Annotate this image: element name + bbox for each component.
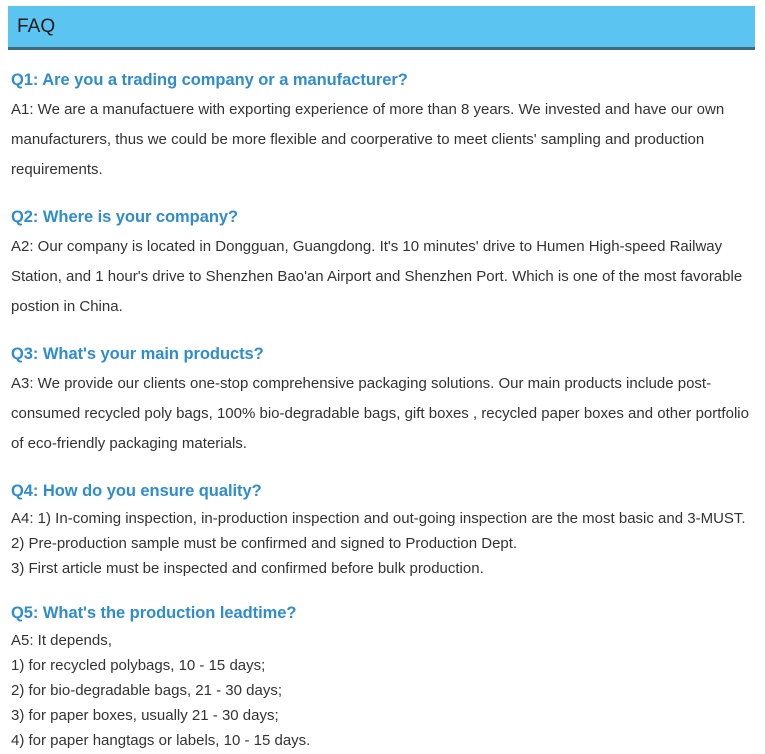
- faq-header-banner: FAQ: [8, 6, 755, 50]
- faq-answer-q4: A4: 1) In-coming inspection, in-producti…: [11, 506, 751, 581]
- faq-answer-line: 3) First article must be inspected and c…: [11, 556, 751, 581]
- faq-item-q3: Q3: What's your main products? A3: We pr…: [11, 344, 751, 459]
- faq-answer-line: A4: 1) In-coming inspection, in-producti…: [11, 506, 751, 531]
- faq-answer-line: A5: It depends,: [11, 628, 751, 653]
- faq-question-q3: Q3: What's your main products?: [11, 344, 751, 364]
- faq-list: Q1: Are you a trading company or a manuf…: [0, 70, 765, 753]
- faq-answer-q3: A3: We provide our clients one-stop comp…: [11, 369, 751, 459]
- faq-answer-line: 2) Pre-production sample must be confirm…: [11, 531, 751, 556]
- faq-item-q5: Q5: What's the production leadtime? A5: …: [11, 603, 751, 753]
- faq-answer-line: 2) for bio-degradable bags, 21 - 30 days…: [11, 678, 751, 703]
- faq-answer-line: 4) for paper hangtags or labels, 10 - 15…: [11, 728, 751, 753]
- faq-question-q4: Q4: How do you ensure quality?: [11, 481, 751, 501]
- faq-answer-q1: A1: We are a manufactuere with exporting…: [11, 95, 751, 185]
- faq-answer-line: 3) for paper boxes, usually 21 - 30 days…: [11, 703, 751, 728]
- faq-answer-q5: A5: It depends, 1) for recycled polybags…: [11, 628, 751, 753]
- faq-item-q2: Q2: Where is your company? A2: Our compa…: [11, 207, 751, 322]
- faq-question-q2: Q2: Where is your company?: [11, 207, 751, 227]
- faq-question-q1: Q1: Are you a trading company or a manuf…: [11, 70, 751, 90]
- faq-page: FAQ Q1: Are you a trading company or a m…: [0, 6, 765, 754]
- faq-item-q4: Q4: How do you ensure quality? A4: 1) In…: [11, 481, 751, 581]
- faq-question-q5: Q5: What's the production leadtime?: [11, 603, 751, 623]
- faq-item-q1: Q1: Are you a trading company or a manuf…: [11, 70, 751, 185]
- page-title: FAQ: [8, 17, 55, 36]
- faq-answer-line: 1) for recycled polybags, 10 - 15 days;: [11, 653, 751, 678]
- faq-answer-q2: A2: Our company is located in Dongguan, …: [11, 232, 751, 322]
